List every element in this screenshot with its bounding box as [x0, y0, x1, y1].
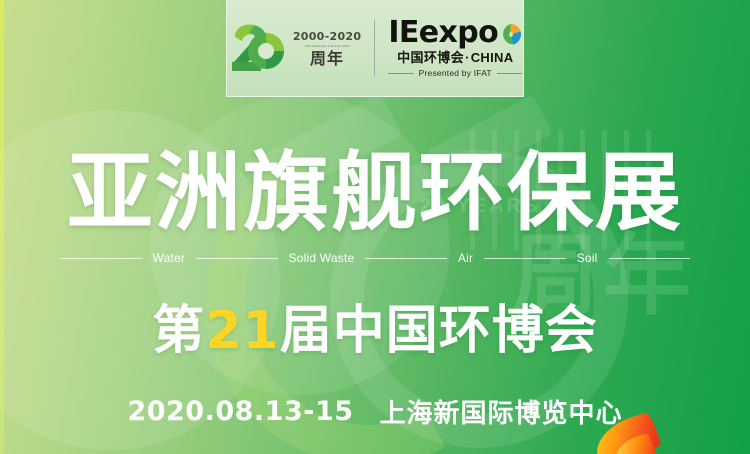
subtitle-suffix: 届中国环博会	[280, 301, 598, 361]
event-venue: 上海新国际博览中心	[380, 393, 623, 430]
category-water: Water	[142, 251, 197, 265]
poster-root: 20 YEARS 周年 2000-2020 20th Anniversar	[0, 0, 750, 454]
category-rule-2	[365, 258, 447, 259]
category-strip: Water Solid Waste Air Soil	[60, 251, 690, 265]
poster-content: 亚洲旗舰环保展 Water Solid Waste Air Soil 第21届中…	[0, 0, 750, 454]
category-solid-waste: Solid Waste	[278, 251, 366, 265]
subtitle-prefix: 第	[152, 301, 205, 361]
page-subtitle: 第21届中国环博会	[0, 305, 750, 357]
category-air: Air	[447, 251, 484, 265]
event-date: 2020.08.13-15	[127, 396, 353, 427]
page-title: 亚洲旗舰环保展	[0, 150, 750, 236]
category-rule-4	[609, 258, 691, 259]
category-rule-0	[60, 258, 142, 259]
subtitle-edition-number: 21	[205, 301, 279, 361]
category-rule-1	[196, 258, 278, 259]
category-soil: Soil	[566, 251, 609, 265]
category-rule-3	[484, 258, 566, 259]
